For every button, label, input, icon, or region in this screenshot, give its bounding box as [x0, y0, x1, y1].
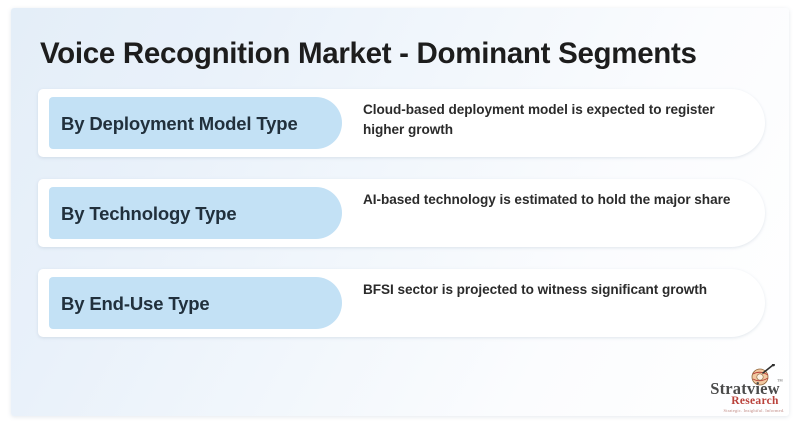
- segment-description: BFSI sector is projected to witness sign…: [363, 280, 748, 300]
- logo-subtitle: Research: [719, 395, 789, 407]
- segment-pill: By Deployment Model Type: [49, 97, 342, 149]
- segment-label: By Technology Type: [49, 202, 250, 225]
- segment-pill: By Technology Type: [49, 187, 342, 239]
- segment-label: By End-Use Type: [49, 292, 224, 315]
- segment-row-content: By Technology Type AI-based technology i…: [38, 179, 765, 247]
- segment-row: By Technology Type AI-based technology i…: [38, 179, 765, 247]
- page-title: Voice Recognition Market - Dominant Segm…: [40, 34, 760, 74]
- segment-row-content: By End-Use Type BFSI sector is projected…: [38, 269, 765, 337]
- segment-description: AI-based technology is estimated to hold…: [363, 190, 748, 210]
- segment-row: By Deployment Model Type Cloud-based dep…: [38, 89, 765, 157]
- stratview-research-logo: Stratview ™ Research Strategic. Insightf…: [701, 364, 789, 416]
- segment-description: Cloud-based deployment model is expected…: [363, 100, 748, 139]
- segment-row-content: By Deployment Model Type Cloud-based dep…: [38, 89, 765, 157]
- logo-trademark: ™: [777, 379, 783, 385]
- segment-pill: By End-Use Type: [49, 277, 342, 329]
- logo-tagline: Strategic. Insightful. Informed.: [715, 408, 789, 413]
- segment-row: By End-Use Type BFSI sector is projected…: [38, 269, 765, 337]
- infographic-card: Voice Recognition Market - Dominant Segm…: [11, 8, 789, 416]
- segment-label: By Deployment Model Type: [49, 112, 312, 135]
